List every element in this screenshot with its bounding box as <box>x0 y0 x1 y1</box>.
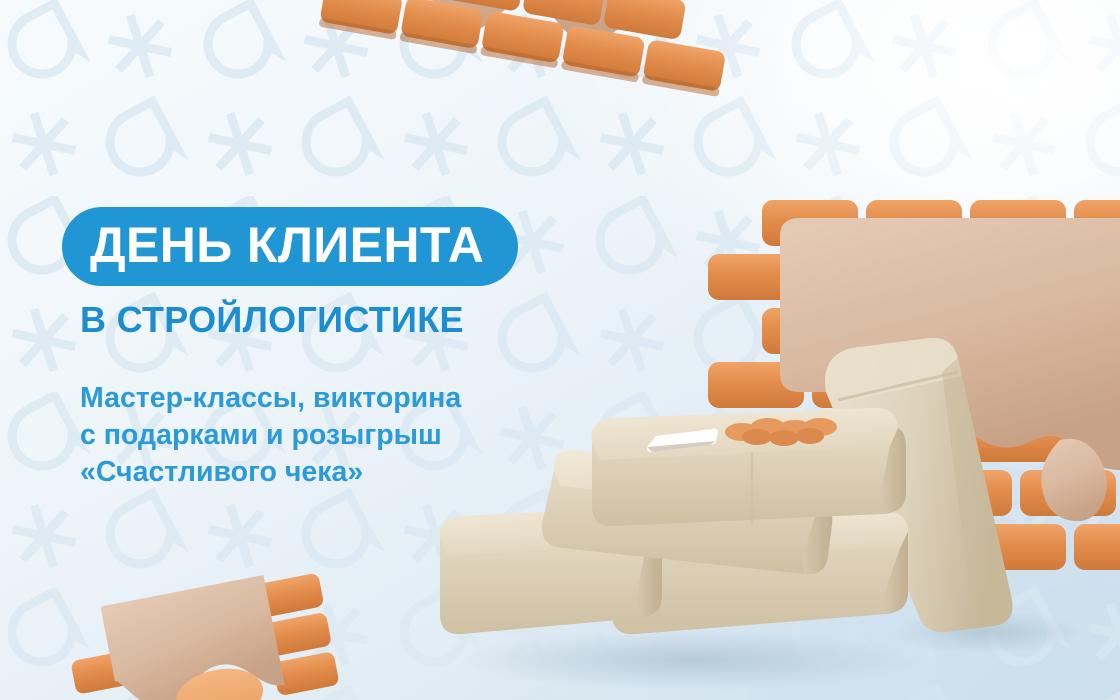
lead-paragraph: Мастер-классы, викторина с подарками и р… <box>62 380 622 490</box>
brick-wall-plaster-top <box>319 0 748 97</box>
orange-mortar-blobs <box>725 418 837 446</box>
block-bottom-right <box>612 512 908 634</box>
title-pill-text: ДЕНЬ КЛИЕНТА <box>90 220 484 270</box>
copy-block: ДЕНЬ КЛИЕНТА В СТРОЙЛОГИСТИКЕ Мастер-кла… <box>62 207 622 490</box>
brick-wall-plaster-right <box>708 200 1120 570</box>
brick-plaster-bottom-left <box>61 565 342 700</box>
title-pill: ДЕНЬ КЛИЕНТА <box>62 207 518 286</box>
lead-line-1: Мастер-классы, викторина <box>80 380 622 417</box>
leaning-cream-slab <box>825 338 1081 654</box>
subtitle: В СТРОЙЛОГИСТИКЕ <box>62 302 622 338</box>
lead-line-2: с подарками и розыгрыш <box>80 417 622 454</box>
block-bottom-left <box>439 508 662 634</box>
white-paper-slip <box>647 429 718 452</box>
block-top <box>591 408 906 526</box>
promo-banner: ДЕНЬ КЛИЕНТА В СТРОЙЛОГИСТИКЕ Мастер-кла… <box>0 0 1120 700</box>
lead-line-3: «Счастливого чека» <box>80 454 622 491</box>
